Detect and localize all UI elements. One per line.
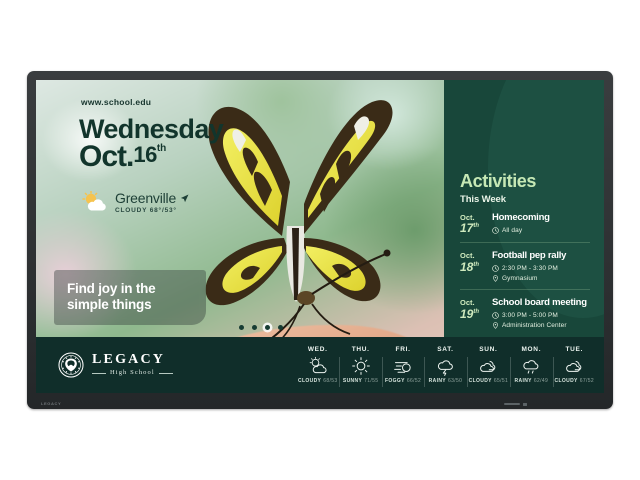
- activities-subtitle: This Week: [460, 194, 590, 205]
- event-body: Homecoming All day: [492, 213, 590, 235]
- event-day: 17th: [460, 222, 484, 235]
- forecast-day-label: THU.: [341, 346, 379, 353]
- quote-line-1: Find joy in the: [67, 281, 193, 297]
- bottom-bar: LEGACY High School WED. C: [36, 337, 604, 393]
- day-name: Wednesday: [79, 116, 223, 143]
- event-time: 2:30 PM - 3:30 PM: [502, 265, 558, 272]
- event-time-row: All day: [492, 227, 590, 234]
- event-time-row: 2:30 PM - 3:30 PM: [492, 265, 590, 272]
- event-title: Football pep rally: [492, 251, 590, 262]
- carousel-dot-1[interactable]: [239, 325, 244, 330]
- school-name-block: LEGACY High School: [92, 353, 173, 377]
- day-ordinal: th: [157, 144, 166, 154]
- forecast-day-label: SAT.: [426, 346, 464, 353]
- event-title: School board meeting: [492, 298, 590, 309]
- rainy-icon: [512, 356, 550, 376]
- weather-text: Greenville CLOUDY 68°/53°: [115, 190, 189, 214]
- event-date: Oct. 17th: [460, 213, 484, 235]
- event-body: School board meeting 3:00 PM - 5:00 PM: [492, 298, 590, 329]
- event-place-row: Gymnasium: [492, 275, 590, 282]
- bezel-indicator: [504, 403, 527, 406]
- quote-line-2: simple things: [67, 297, 193, 313]
- weekly-forecast: WED. CLOUDY68/53 THU. SUNNY71/55: [296, 337, 604, 393]
- forecast-day: THU. SUNNY71/55: [339, 346, 381, 384]
- event-day: 19th: [460, 308, 484, 321]
- event-time-row: 3:00 PM - 5:00 PM: [492, 312, 590, 319]
- screen: www.school.edu Wednesday Oct. 16 th: [36, 80, 604, 393]
- activities-title: Activities: [460, 172, 590, 190]
- forecast-day: SUN. CLOUDY65/51: [467, 346, 510, 384]
- school-tagline: High School: [92, 370, 173, 377]
- date-block: Oct. 16 th: [79, 142, 166, 172]
- forecast-day: WED. CLOUDY68/53: [296, 346, 339, 384]
- day-number: 16: [133, 142, 156, 168]
- activities-content: Activities This Week Oct. 17th Homecomin…: [444, 80, 604, 336]
- weather-condition: CLOUDY 68°/53°: [115, 207, 189, 214]
- quote-card: Find joy in the simple things: [54, 270, 206, 325]
- school-logo: LEGACY High School: [36, 352, 296, 378]
- forecast-day: MON. RAINY62/49: [510, 346, 552, 384]
- forecast-day-label: TUE.: [555, 346, 594, 353]
- site-url: www.school.edu: [81, 97, 151, 107]
- map-pin-icon: [492, 322, 499, 329]
- forecast-summary: RAINY63/50: [426, 378, 464, 384]
- display-device: www.school.edu Wednesday Oct. 16 th: [27, 71, 613, 409]
- event-place: Administration Center: [502, 322, 567, 329]
- map-pin-icon: [492, 275, 499, 282]
- foggy-icon: [384, 356, 422, 376]
- carousel-dot-2[interactable]: [252, 325, 257, 330]
- cloudy-icon: [469, 356, 508, 376]
- forecast-summary: CLOUDY65/51: [469, 378, 508, 384]
- navigation-arrow-icon: [180, 194, 189, 203]
- event-time: 3:00 PM - 5:00 PM: [502, 312, 558, 319]
- event-place-row: Administration Center: [492, 322, 590, 329]
- current-weather: Greenville CLOUDY 68°/53°: [82, 190, 189, 214]
- forecast-summary: FOGGY66/52: [384, 378, 422, 384]
- event-date: Oct. 18th: [460, 251, 484, 282]
- rule-left: [92, 373, 106, 374]
- forecast-day-label: SUN.: [469, 346, 508, 353]
- bezel-brand-label: LEGACY: [41, 401, 61, 406]
- sunny-icon: [341, 356, 379, 376]
- forecast-day: FRI. FOGGY66/52: [382, 346, 424, 384]
- event-title: Homecoming: [492, 213, 590, 224]
- event-date: Oct. 19th: [460, 298, 484, 329]
- forecast-day-label: FRI.: [384, 346, 422, 353]
- event-item[interactable]: Oct. 19th School board meeting 3:00 PM -…: [460, 290, 590, 336]
- carousel-dots[interactable]: [239, 325, 283, 330]
- shield-crest-icon: [58, 352, 84, 378]
- event-place: Gymnasium: [502, 275, 538, 282]
- school-name: LEGACY: [92, 353, 173, 367]
- partly-cloudy-icon: [298, 356, 337, 376]
- clock-icon: [492, 312, 499, 319]
- bezel-mark-bar: [504, 403, 520, 405]
- event-time: All day: [502, 227, 522, 234]
- event-day: 18th: [460, 261, 484, 274]
- forecast-day-label: MON.: [512, 346, 550, 353]
- partly-cloudy-icon: [82, 191, 108, 213]
- forecast-day: SAT. RAINY63/50: [424, 346, 466, 384]
- event-item[interactable]: Oct. 18th Football pep rally 2:30 PM - 3…: [460, 243, 590, 290]
- carousel-dot-4[interactable]: [278, 325, 283, 330]
- forecast-summary: CLOUDY67/52: [555, 378, 594, 384]
- forecast-summary: SUNNY71/55: [341, 378, 379, 384]
- bezel-mark-square: [523, 403, 527, 406]
- event-body: Football pep rally 2:30 PM - 3:30 PM: [492, 251, 590, 282]
- forecast-day: TUE. CLOUDY67/52: [553, 346, 596, 384]
- clock-icon: [492, 265, 499, 272]
- month-label: Oct.: [79, 142, 133, 172]
- carousel-dot-3-active[interactable]: [265, 325, 270, 330]
- cloudy-icon: [555, 356, 594, 376]
- weather-city: Greenville: [115, 190, 176, 206]
- event-item[interactable]: Oct. 17th Homecoming All day: [460, 205, 590, 243]
- thunderstorm-icon: [426, 356, 464, 376]
- forecast-summary: RAINY62/49: [512, 378, 550, 384]
- rule-right: [159, 373, 173, 374]
- forecast-summary: CLOUDY68/53: [298, 378, 337, 384]
- clock-icon: [492, 227, 499, 234]
- forecast-day-label: WED.: [298, 346, 337, 353]
- weather-city-row: Greenville: [115, 190, 189, 206]
